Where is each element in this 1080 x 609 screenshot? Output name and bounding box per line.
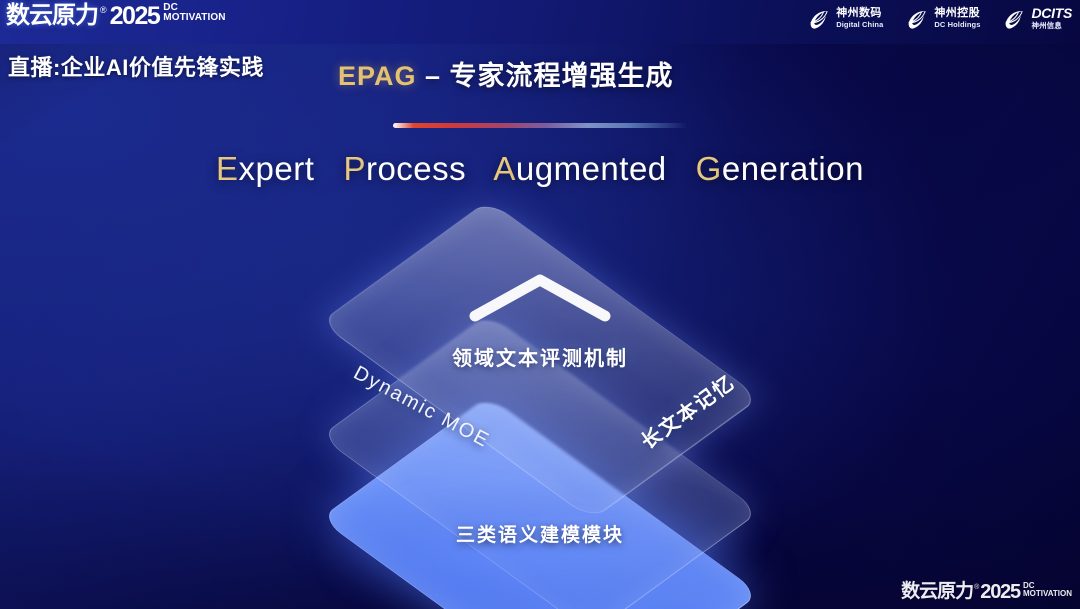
watermark-dc-motivation: DC MOTIVATION — [1023, 582, 1072, 598]
top-bar: 数云原力 ® 2025 DC MOTIVATION 神州数码 Digital C… — [0, 0, 1080, 44]
partner-name-en: Digital China — [836, 21, 883, 29]
slide-canvas: 数云原力 ® 2025 DC MOTIVATION 神州数码 Digital C… — [0, 0, 1080, 609]
watermark-year: 2025 — [980, 581, 1020, 603]
partner-name-en: 神州信息 — [1031, 22, 1072, 30]
brand-name-cn: 数云原力 — [6, 2, 98, 30]
diagram-label-bottom: 三类语义建模模块 — [456, 520, 624, 547]
partner-logo-dc-holdings: 神州控股 DC Holdings — [905, 6, 980, 30]
brand-motivation-text: MOTIVATION — [163, 12, 225, 23]
word-expert: Expert — [216, 150, 314, 187]
diagram-label-top: 领域文本评测机制 — [452, 342, 628, 371]
brand-year: 2025 — [110, 2, 160, 30]
title-chinese: 专家流程增强生成 — [450, 61, 674, 91]
partner-name-cn: 神州数码 — [836, 8, 883, 19]
swirl-logo-icon — [807, 6, 831, 30]
brand-logo: 数云原力 ® 2025 DC MOTIVATION — [6, 2, 226, 30]
word-augmented: Augmented — [493, 150, 666, 187]
partner-name-cn: DCITS — [1031, 6, 1072, 20]
partner-logo-dcits: DCITS 神州信息 — [1002, 6, 1072, 30]
title-separator: – — [417, 61, 450, 91]
english-expansion-title: Expert Process Augmented Generation — [0, 150, 1080, 188]
diagram-glow — [325, 486, 755, 609]
brand-dc-text: DC — [163, 3, 225, 12]
swirl-logo-icon — [905, 6, 929, 30]
page-title: EPAG – 专家流程增强生成 — [338, 54, 674, 93]
watermark-motivation-text: MOTIVATION — [1023, 589, 1072, 598]
gradient-divider — [393, 123, 688, 128]
partner-name-cn: 神州控股 — [934, 8, 980, 19]
corner-watermark: 数云原力 ® 2025 DC MOTIVATION — [901, 581, 1072, 603]
chevron-up-icon — [465, 270, 615, 331]
partner-logo-digital-china: 神州数码 Digital China — [807, 6, 883, 30]
swirl-logo-icon — [1002, 6, 1026, 30]
watermark-dc-text: DC — [1023, 582, 1072, 589]
word-process: Process — [343, 150, 466, 187]
word-generation: Generation — [696, 150, 864, 187]
watermark-registered-mark: ® — [974, 583, 979, 592]
title-acronym: EPAG — [338, 61, 417, 91]
watermark-name-cn: 数云原力 — [901, 581, 973, 603]
brand-dc-motivation: DC MOTIVATION — [163, 3, 225, 23]
partner-name-en: DC Holdings — [934, 21, 980, 29]
layered-architecture-diagram: 领域文本评测机制 Dynamic MOE 长文本记忆 三类语义建模模块 — [290, 236, 790, 586]
brand-registered-mark: ® — [100, 4, 107, 16]
partner-logo-group: 神州数码 Digital China 神州控股 DC Holdings — [807, 6, 1072, 30]
live-broadcast-label: 直播:企业AI价值先锋实践 — [8, 50, 264, 82]
